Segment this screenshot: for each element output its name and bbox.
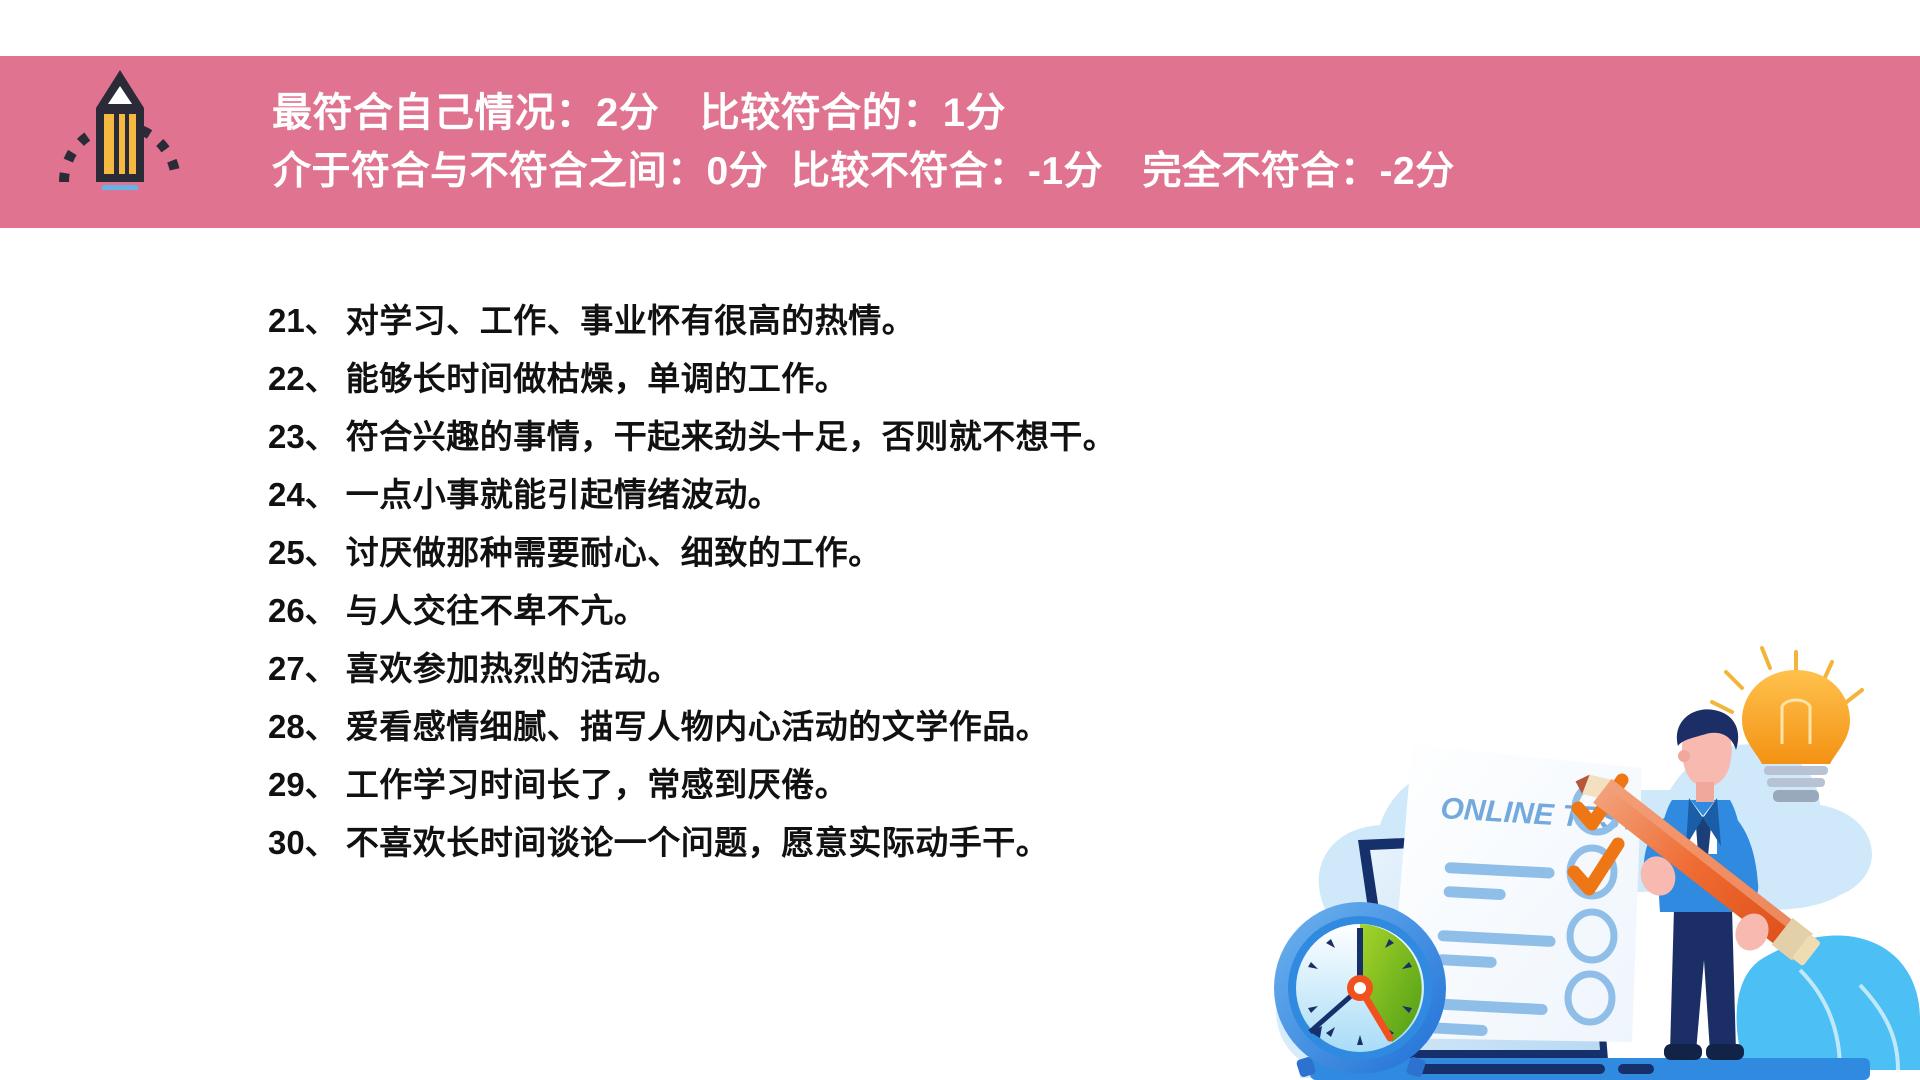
question-separator: 、 <box>305 526 338 574</box>
question-item: 25、讨厌做那种需要耐心、细致的工作。 <box>268 526 1418 584</box>
question-item: 24、一点小事就能引起情绪波动。 <box>268 468 1418 526</box>
question-text: 喜欢参加热烈的活动。 <box>346 642 681 690</box>
question-separator: 、 <box>305 700 338 748</box>
header-text-wrap: 最符合自己情况：2分 比较符合的：1分 介于符合与不符合之间：0分 比较不符合：… <box>272 56 1872 228</box>
question-number: 23 <box>268 418 305 456</box>
scoring-line-2: 介于符合与不符合之间：0分 比较不符合：-1分 完全不符合：-2分 <box>272 148 1872 196</box>
question-separator: 、 <box>305 816 338 864</box>
question-item: 22、能够长时间做枯燥，单调的工作。 <box>268 352 1418 410</box>
question-number: 24 <box>268 476 305 514</box>
question-item: 26、与人交往不卑不亢。 <box>268 584 1418 642</box>
question-number: 21 <box>268 302 305 340</box>
question-number: 28 <box>268 708 305 746</box>
question-text: 工作学习时间长了，常感到厌倦。 <box>346 758 849 806</box>
question-text: 符合兴趣的事情，干起来劲头十足，否则就不想干。 <box>346 410 1117 458</box>
question-text: 对学习、工作、事业怀有很高的热情。 <box>346 294 916 342</box>
question-separator: 、 <box>305 352 338 400</box>
slide-root: 最符合自己情况：2分 比较符合的：1分 介于符合与不符合之间：0分 比较不符合：… <box>0 0 1920 1080</box>
question-text: 一点小事就能引起情绪波动。 <box>346 468 782 516</box>
question-text: 能够长时间做枯燥，单调的工作。 <box>346 352 849 400</box>
question-number: 29 <box>268 766 305 804</box>
question-text: 与人交往不卑不亢。 <box>346 584 648 632</box>
question-separator: 、 <box>305 410 338 458</box>
question-text: 爱看感情细腻、描写人物内心活动的文学作品。 <box>346 700 1050 748</box>
question-number: 22 <box>268 360 305 398</box>
question-separator: 、 <box>305 294 338 342</box>
question-item: 21、对学习、工作、事业怀有很高的热情。 <box>268 294 1418 352</box>
question-item: 23、符合兴趣的事情，干起来劲头十足，否则就不想干。 <box>268 410 1418 468</box>
question-separator: 、 <box>305 758 338 806</box>
pencil-icon <box>52 42 188 190</box>
scoring-line-1: 最符合自己情况：2分 比较符合的：1分 <box>272 89 1872 138</box>
online-test-illustration: ONLINE TEST <box>1240 640 1920 1080</box>
question-number: 26 <box>268 592 305 630</box>
question-separator: 、 <box>305 584 338 632</box>
question-number: 25 <box>268 534 305 572</box>
question-text: 讨厌做那种需要耐心、细致的工作。 <box>346 526 882 574</box>
question-number: 30 <box>268 824 305 862</box>
question-text: 不喜欢长时间谈论一个问题，愿意实际动手干。 <box>346 816 1050 864</box>
leaf-shape <box>1737 936 1920 1070</box>
question-number: 27 <box>268 650 305 688</box>
question-separator: 、 <box>305 468 338 516</box>
question-separator: 、 <box>305 642 338 690</box>
